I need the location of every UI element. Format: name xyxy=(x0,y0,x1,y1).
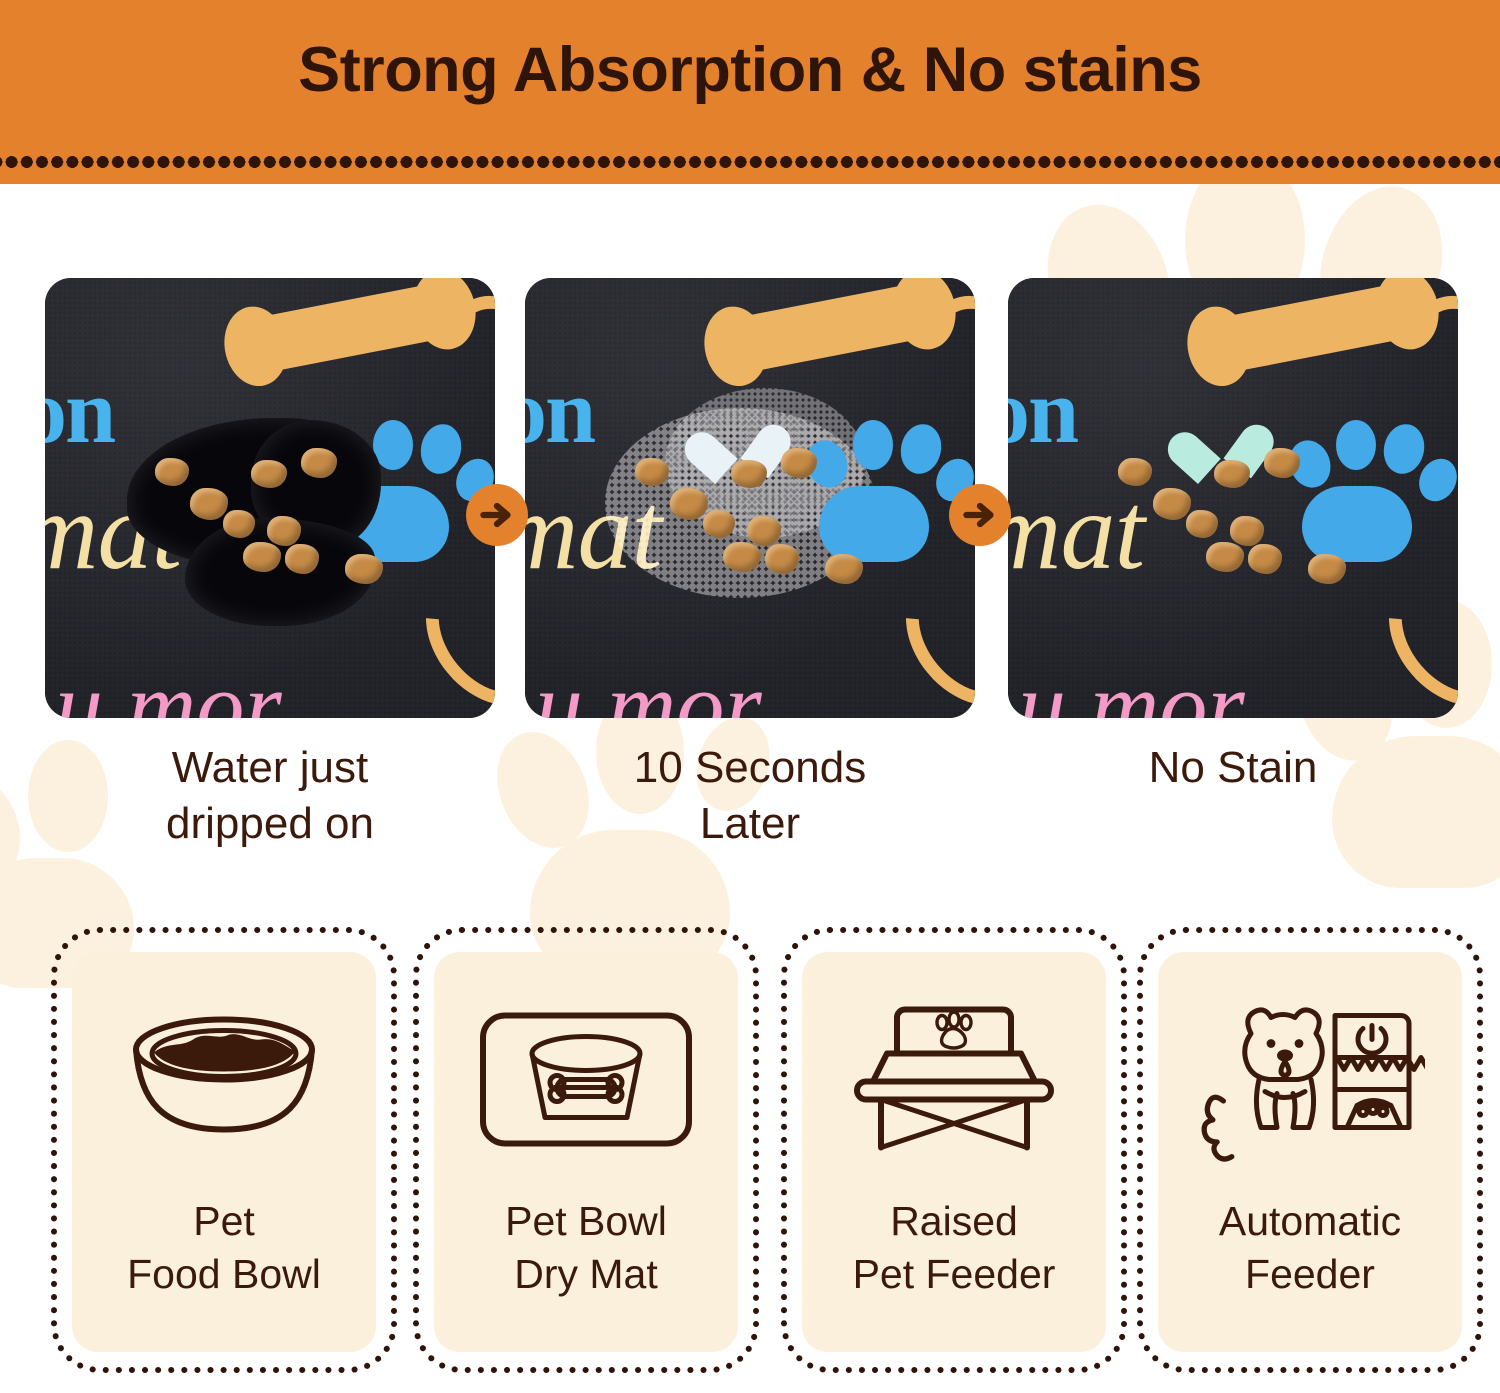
feature-card-inner: Raised Pet Feeder xyxy=(802,952,1106,1352)
arrow-right-badge-1 xyxy=(466,484,528,546)
kibble xyxy=(1308,554,1346,584)
feature-card-automatic-feeder[interactable]: Automatic Feeder xyxy=(1136,926,1484,1374)
kibble xyxy=(670,488,708,520)
kibble xyxy=(285,544,319,574)
feature-card-inner: Pet Bowl Dry Mat xyxy=(434,952,738,1352)
absorption-demo-strip: on mat u mor on mat u mor xyxy=(0,278,1500,718)
raised-pet-feeder-icon xyxy=(839,988,1069,1173)
arrow-right-icon xyxy=(479,497,515,533)
feature-card-label: Pet Bowl Dry Mat xyxy=(505,1195,667,1302)
paw-print-icon xyxy=(801,418,961,568)
arrow-right-icon xyxy=(962,497,998,533)
feature-card-pet-food-bowl[interactable]: Pet Food Bowl xyxy=(50,926,398,1374)
kibble xyxy=(1206,542,1244,572)
mat-text-on: on xyxy=(525,358,594,464)
kibble xyxy=(155,458,189,486)
kibble xyxy=(243,542,281,572)
kibble xyxy=(190,488,228,520)
kibble xyxy=(1186,510,1218,538)
mat-text-mat: mat xyxy=(1008,468,1144,595)
caption-step-1: Water just dripped on xyxy=(45,740,495,853)
kibble xyxy=(747,516,781,546)
feature-cards: Pet Food Bowl Pet Bo xyxy=(0,926,1500,1376)
kibble xyxy=(1248,544,1282,574)
kibble xyxy=(1264,448,1300,478)
feature-card-label: Raised Pet Feeder xyxy=(853,1195,1056,1302)
mat-text-more: u mor xyxy=(535,650,762,718)
feature-card-label: Automatic Feeder xyxy=(1219,1195,1401,1302)
mat-text-on: on xyxy=(45,358,114,464)
demo-photo-step-1: on mat u mor xyxy=(45,278,495,718)
kibble xyxy=(223,510,255,538)
dotted-divider xyxy=(0,156,1500,168)
automatic-feeder-icon xyxy=(1195,988,1425,1173)
caption-step-2: 10 Seconds Later xyxy=(525,740,975,853)
kibble xyxy=(825,554,863,584)
kibble xyxy=(635,458,669,486)
page-title: Strong Absorption & No stains xyxy=(0,34,1500,106)
kibble xyxy=(1153,488,1191,520)
feature-card-pet-bowl-dry-mat[interactable]: Pet Bowl Dry Mat xyxy=(412,926,760,1374)
kibble xyxy=(781,448,817,478)
kibble xyxy=(345,554,383,584)
kibble xyxy=(723,542,761,572)
feature-card-raised-pet-feeder[interactable]: Raised Pet Feeder xyxy=(780,926,1128,1374)
mat-text-on: on xyxy=(1008,358,1077,464)
kibble xyxy=(1118,458,1152,486)
kibble xyxy=(765,544,799,574)
caption-step-3: No Stain xyxy=(1008,740,1458,796)
pet-food-bowl-icon xyxy=(109,988,339,1173)
arrow-right-badge-2 xyxy=(949,484,1011,546)
pet-bowl-dry-mat-icon xyxy=(471,988,701,1173)
demo-photo-step-3: on mat u mor xyxy=(1008,278,1458,718)
header-banner: Strong Absorption & No stains xyxy=(0,0,1500,184)
feature-card-inner: Automatic Feeder xyxy=(1158,952,1462,1352)
kibble xyxy=(301,448,337,478)
kibble xyxy=(1214,460,1250,488)
demo-photo-step-2: on mat u mor xyxy=(525,278,975,718)
mat-text-more: u mor xyxy=(55,650,282,718)
feature-card-label: Pet Food Bowl xyxy=(127,1195,321,1302)
mat-text-more: u mor xyxy=(1018,650,1245,718)
feature-card-inner: Pet Food Bowl xyxy=(72,952,376,1352)
kibble xyxy=(267,516,301,546)
kibble xyxy=(731,460,767,488)
kibble xyxy=(251,460,287,488)
paw-print-icon xyxy=(1284,418,1444,568)
kibble xyxy=(1230,516,1264,546)
kibble xyxy=(703,510,735,538)
